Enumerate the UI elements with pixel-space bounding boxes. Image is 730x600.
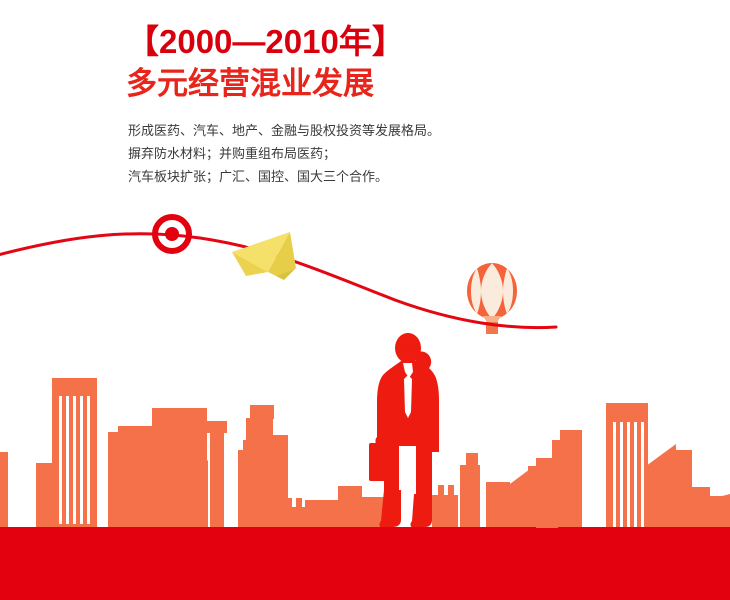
paper-plane-icon: [232, 232, 296, 280]
city-skyline: [0, 378, 730, 528]
body-line-3: 汽车板块扩张；广汇、国控、国大三个合作。: [128, 165, 548, 188]
title-subject: 多元经营混业发展: [126, 64, 556, 104]
body-line-1: 形成医药、汽车、地产、金融与股权投资等发展格局。: [128, 119, 548, 142]
heading-block: 【2000—2010年】 多元经营混业发展: [126, 22, 556, 104]
body-line-2: 摒弃防水材料；并购重组布局医药；: [128, 142, 548, 165]
red-ground-band: [0, 527, 730, 600]
slide-canvas: 【2000—2010年】 多元经营混业发展 形成医药、汽车、地产、金融与股权投资…: [0, 0, 730, 600]
title-period-range: 【2000—2010年】: [126, 22, 556, 62]
body-block: 形成医药、汽车、地产、金融与股权投资等发展格局。 摒弃防水材料；并购重组布局医药…: [128, 119, 548, 188]
